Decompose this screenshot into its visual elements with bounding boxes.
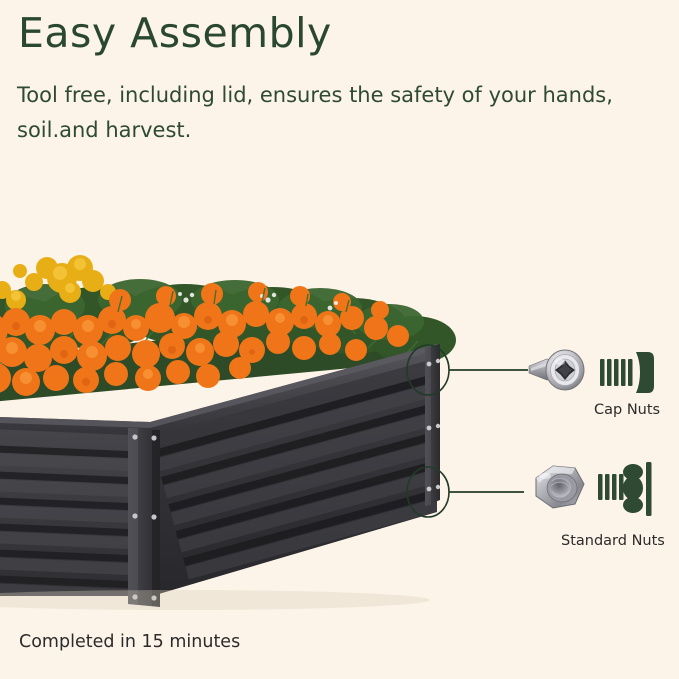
- completion-time-note: Completed in 15 minutes: [19, 632, 240, 652]
- cap-nut-diagram-icon: [600, 352, 654, 393]
- standard-nuts-label: Standard Nuts: [561, 533, 665, 549]
- product-infographic: Easy Assembly Tool free, including lid, …: [0, 0, 679, 679]
- garden-bed-group: [0, 255, 518, 620]
- standard-nut-diagram-icon: [598, 462, 652, 516]
- ground-shadow: [0, 590, 430, 610]
- hex-nut-icon: [536, 466, 584, 508]
- cap-nuts-label: Cap Nuts: [594, 402, 660, 418]
- bed-panel-right: [152, 358, 518, 620]
- corner-post-right: [425, 344, 440, 506]
- corner-post-front: [128, 428, 160, 607]
- page-subtitle: Tool free, including lid, ensures the sa…: [17, 78, 637, 147]
- phillips-truss-head-screw-icon: [529, 350, 584, 390]
- page-title: Easy Assembly: [18, 12, 332, 55]
